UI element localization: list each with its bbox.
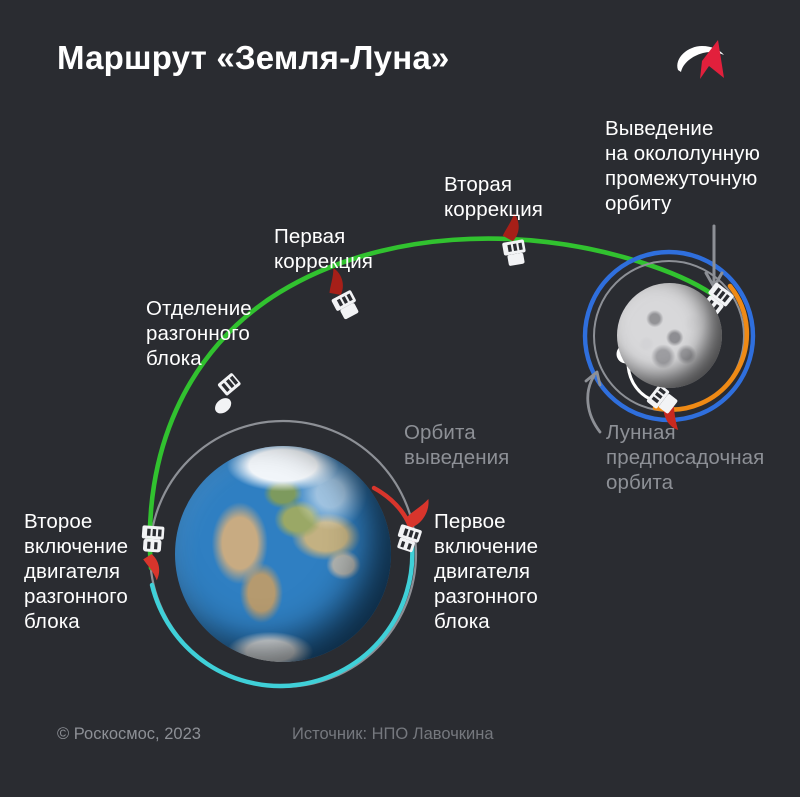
spacecraft-first-burn-icon <box>394 493 432 553</box>
label-second-correction: Вторая коррекция <box>444 172 543 222</box>
label-first-burn: Первое включение двигателя разгонного бл… <box>434 509 538 634</box>
label-injection-orbit: Орбита выведения <box>404 420 509 470</box>
label-lunar-insertion: Выведение на окололунную промежуточную о… <box>605 116 760 216</box>
label-second-burn: Второе включение двигателя разгонного бл… <box>24 509 128 634</box>
infographic-root: Маршрут «Земля-Луна» <box>0 0 800 797</box>
label-separation: Отделение разгонного блока <box>146 296 252 371</box>
earth-globe <box>175 446 391 662</box>
label-first-correction: Первая коррекция <box>274 224 373 274</box>
spacecraft-separation-icon <box>203 372 248 416</box>
pre-landing-arrow-icon <box>586 372 600 432</box>
moon-globe <box>617 283 722 388</box>
source-text: Источник: НПО Лавочкина <box>292 725 494 744</box>
copyright-text: © Роскосмос, 2023 <box>57 725 201 744</box>
label-pre-landing-orbit: Лунная предпосадочная орбита <box>606 420 764 495</box>
spacecraft-first-correction-icon <box>318 266 361 321</box>
insertion-arrow-icon <box>706 226 722 287</box>
